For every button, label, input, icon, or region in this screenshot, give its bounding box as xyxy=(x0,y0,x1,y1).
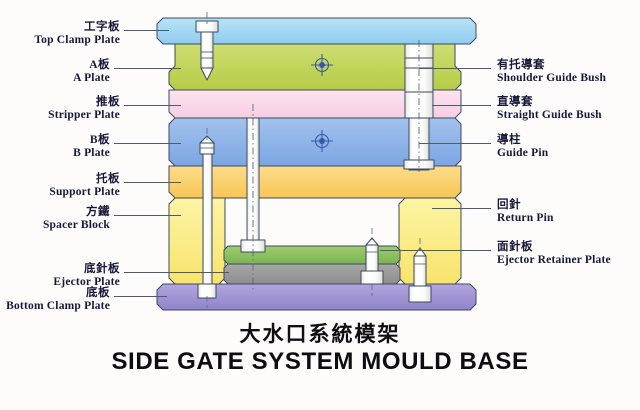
label-b-plate-cn: B板 xyxy=(73,134,110,147)
label-support-plate: 托板 Support Plate xyxy=(49,173,120,199)
leader-ejector-plate xyxy=(124,272,229,273)
label-ejector-retainer-plate: 面針板 Ejector Retainer Plate xyxy=(497,241,611,267)
label-spacer-block-en: Spacer Block xyxy=(43,219,110,232)
label-spacer-block: 方鐵 Spacer Block xyxy=(43,206,110,232)
leader-shoulder-guide-bush xyxy=(419,68,491,69)
label-shoulder-guide-bush-cn: 有托導套 xyxy=(497,59,606,72)
label-stripper-plate-en: Stripper Plate xyxy=(48,109,120,122)
label-top-clamp-plate-en: Top Clamp Plate xyxy=(34,34,120,47)
label-top-clamp-plate: 工字板 Top Clamp Plate xyxy=(34,21,120,47)
label-return-pin: 回針 Return Pin xyxy=(497,199,554,225)
leader-b-plate xyxy=(114,143,181,144)
label-stripper-plate-cn: 推板 xyxy=(48,96,120,109)
label-return-pin-cn: 回針 xyxy=(497,199,554,212)
leader-support-plate xyxy=(124,182,181,183)
label-guide-pin-cn: 導柱 xyxy=(497,134,548,147)
mould-base-diagram-page: 工字板 Top Clamp Plate A板 A Plate 推板 Stripp… xyxy=(0,0,640,410)
label-straight-guide-bush: 直導套 Straight Guide Bush xyxy=(497,96,602,122)
label-shoulder-guide-bush: 有托導套 Shoulder Guide Bush xyxy=(497,59,606,85)
label-support-plate-en: Support Plate xyxy=(49,186,120,199)
leader-stripper-plate xyxy=(124,105,181,106)
label-a-plate-cn: A板 xyxy=(73,59,110,72)
label-ejector-retainer-plate-en: Ejector Retainer Plate xyxy=(497,254,611,267)
label-guide-pin: 導柱 Guide Pin xyxy=(497,134,548,160)
label-a-plate: A板 A Plate xyxy=(73,59,110,85)
label-b-plate-en: B Plate xyxy=(73,147,110,160)
leader-bottom-clamp-plate xyxy=(114,296,167,297)
label-support-plate-cn: 托板 xyxy=(49,173,120,186)
label-bottom-clamp-plate-cn: 底板 xyxy=(6,287,110,300)
leader-top-clamp-plate xyxy=(124,30,169,31)
plate-support xyxy=(169,166,461,198)
leader-spacer-block xyxy=(114,215,181,216)
leader-a-plate xyxy=(114,68,181,69)
label-b-plate: B板 B Plate xyxy=(73,134,110,160)
leader-guide-pin xyxy=(419,143,491,144)
label-spacer-block-cn: 方鐵 xyxy=(43,206,110,219)
label-return-pin-en: Return Pin xyxy=(497,212,554,225)
label-stripper-plate: 推板 Stripper Plate xyxy=(48,96,120,122)
label-ejector-retainer-plate-cn: 面針板 xyxy=(497,241,611,254)
label-a-plate-en: A Plate xyxy=(73,72,110,85)
leader-ejector-retainer-plate xyxy=(380,250,491,251)
label-bottom-clamp-plate: 底板 Bottom Clamp Plate xyxy=(6,287,110,313)
label-top-clamp-plate-cn: 工字板 xyxy=(34,21,120,34)
leader-return-pin xyxy=(432,208,491,209)
title-english: SIDE GATE SYSTEM MOULD BASE xyxy=(0,348,640,376)
label-ejector-plate: 底針板 Ejector Plate xyxy=(53,263,120,289)
spacer-block-right xyxy=(399,198,461,284)
label-bottom-clamp-plate-en: Bottom Clamp Plate xyxy=(6,300,110,313)
label-shoulder-guide-bush-en: Shoulder Guide Bush xyxy=(497,72,606,85)
title-chinese: 大水口系統模架 xyxy=(0,318,640,348)
label-guide-pin-en: Guide Pin xyxy=(497,147,548,160)
leader-straight-guide-bush xyxy=(432,105,491,106)
label-ejector-plate-cn: 底針板 xyxy=(53,263,120,276)
label-straight-guide-bush-en: Straight Guide Bush xyxy=(497,109,602,122)
label-straight-guide-bush-cn: 直導套 xyxy=(497,96,602,109)
